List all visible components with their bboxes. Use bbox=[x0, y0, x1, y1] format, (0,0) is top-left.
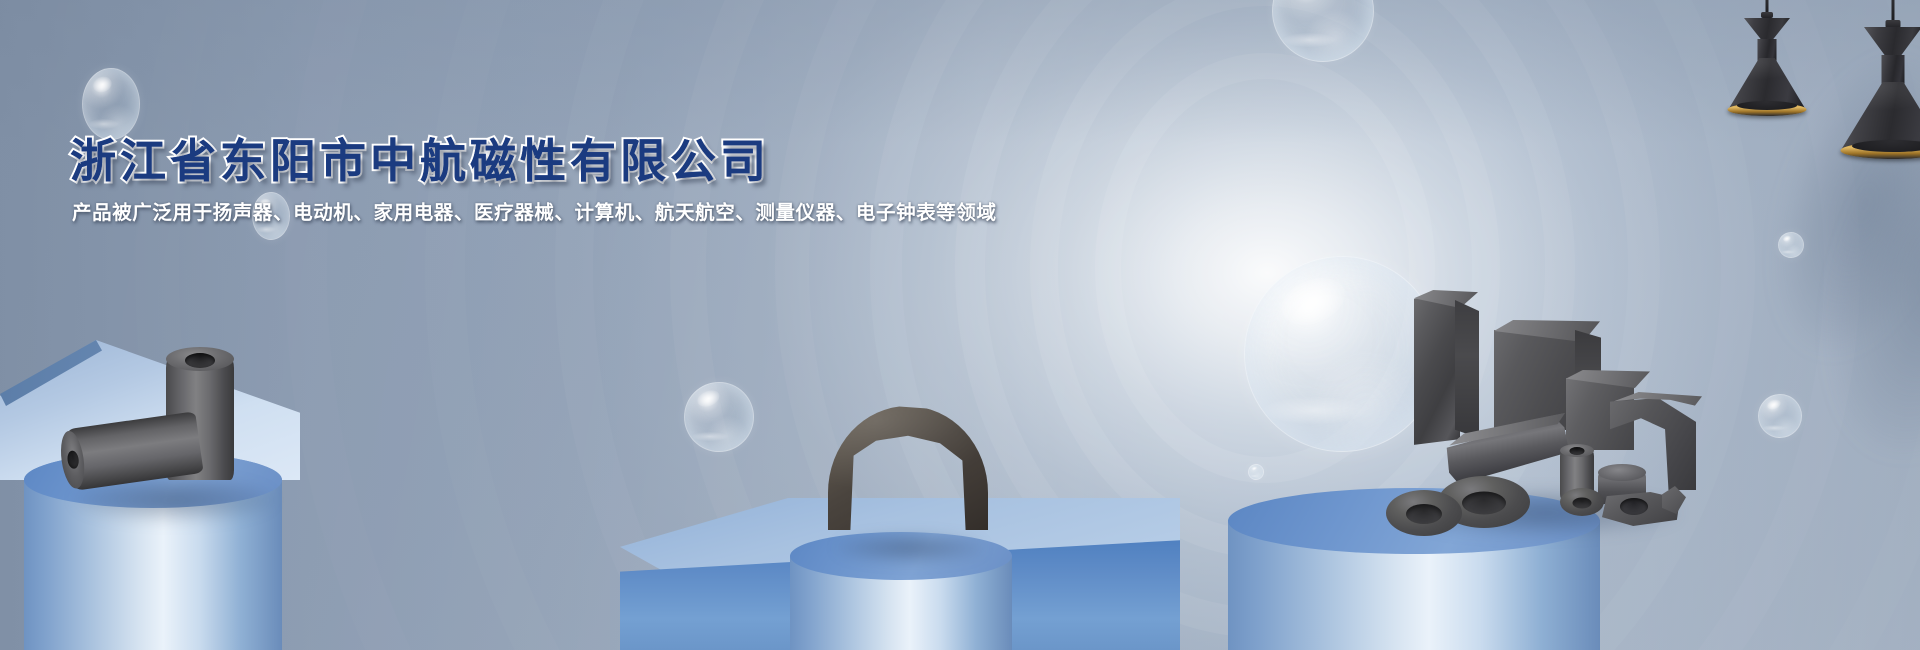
bubble-right-small bbox=[1758, 394, 1802, 438]
page-subtitle: 产品被广泛用于扬声器、电动机、家用电器、医疗器械、计算机、航天航空、测量仪器、电… bbox=[72, 196, 997, 225]
disc-magnet-top bbox=[1598, 464, 1646, 481]
block-magnet-tall bbox=[1414, 293, 1460, 445]
shadow-arc-magnet bbox=[836, 534, 984, 562]
hero-banner: 浙江省东阳市中航磁性有限公司 浙江省东阳市中航磁性有限公司 产品被广泛用于扬声器… bbox=[0, 0, 1920, 650]
lamp-inner-shade bbox=[1737, 101, 1797, 110]
lamp-cord bbox=[1892, 0, 1895, 22]
pendant-lamp-small bbox=[1712, 0, 1822, 130]
magnet-bore-hole bbox=[185, 353, 215, 368]
lamp-cap bbox=[1886, 20, 1901, 28]
ring-magnet-medium bbox=[1386, 490, 1462, 536]
lamp-top-cone bbox=[1864, 27, 1920, 57]
ring-magnet-small bbox=[1560, 488, 1604, 516]
lamp-top-cone bbox=[1744, 18, 1790, 40]
magnet-bore-hole bbox=[1570, 447, 1585, 455]
ring-hole bbox=[1573, 497, 1592, 508]
ring-hole bbox=[1462, 492, 1506, 515]
pendant-lamp-large bbox=[1818, 0, 1920, 178]
lamp-waist bbox=[1882, 55, 1905, 85]
bubble-center bbox=[684, 382, 754, 452]
page-title-fill: 浙江省东阳市中航磁性有限公司 bbox=[70, 125, 770, 191]
lamp-cap bbox=[1761, 12, 1773, 18]
lamp-waist bbox=[1758, 39, 1777, 61]
block-magnet-tall-side bbox=[1455, 300, 1479, 438]
bubble-hero-large bbox=[1244, 256, 1440, 452]
bubble-far-right bbox=[1778, 232, 1804, 258]
plate-magnet-hole-opening bbox=[1620, 498, 1648, 515]
ring-hole bbox=[1406, 504, 1442, 524]
bubble-mini bbox=[1248, 464, 1264, 480]
